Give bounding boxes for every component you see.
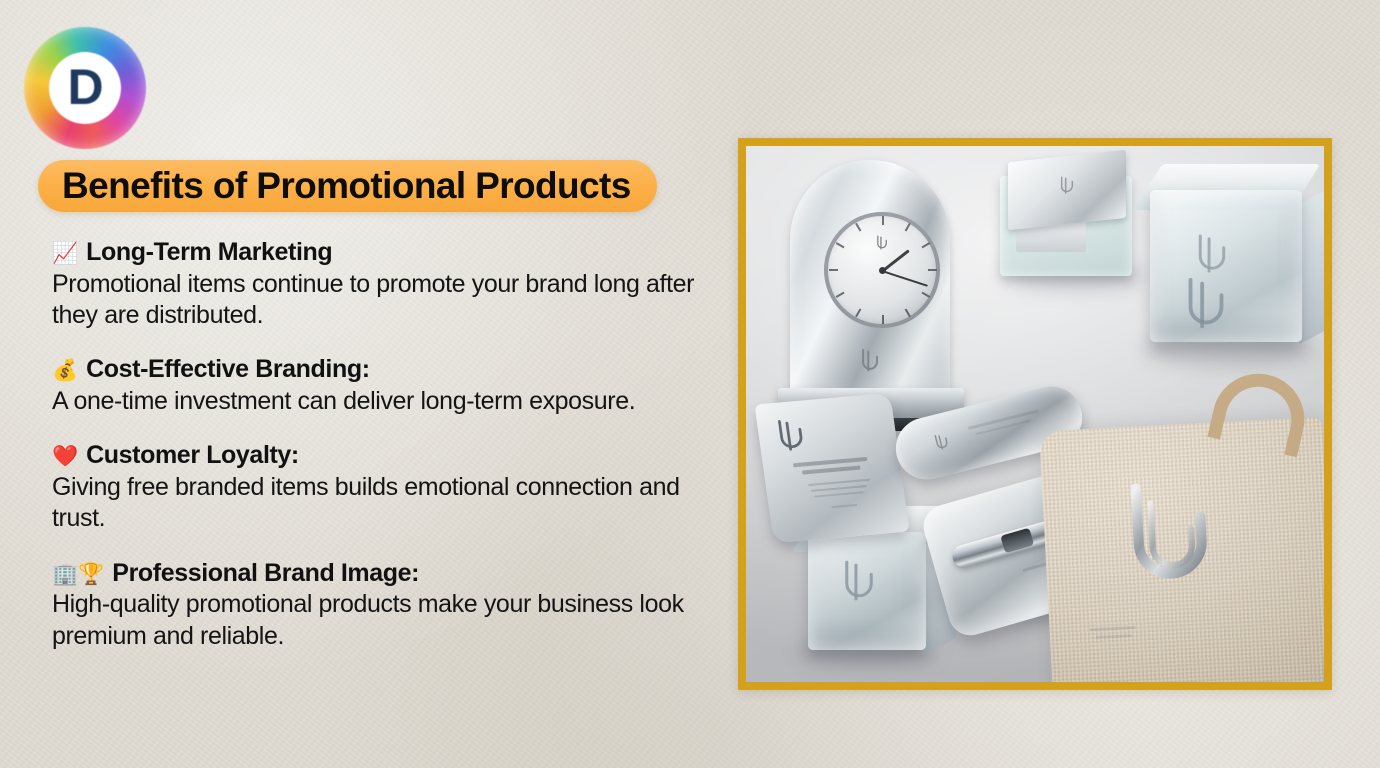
engraved-brand-mark (770, 414, 812, 458)
benefit-title: Customer Loyalty: (86, 441, 299, 470)
benefit-title: Cost-Effective Branding: (86, 355, 369, 384)
plaque-engraved-sub (831, 504, 857, 508)
memo-box-lid (1008, 150, 1126, 230)
logo-disc: D (49, 52, 121, 124)
slide-stage: D Benefits of Promotional Products 📈 Lon… (0, 0, 1380, 768)
benefit-heading: 💰 Cost-Effective Branding: (52, 355, 712, 384)
silver-memo-box (1000, 156, 1140, 281)
benefit-body: Promotional items continue to promote yo… (52, 269, 697, 332)
printed-brand-mark (1107, 467, 1232, 607)
metal-award-plaque (754, 393, 909, 544)
page-title-pill: Benefits of Promotional Products (38, 160, 657, 212)
product-photo (746, 146, 1324, 682)
pen-grip (1000, 528, 1034, 554)
crystal-cube-paperweight-large (1150, 190, 1302, 342)
benefit-heading: 📈 Long-Term Marketing (52, 238, 712, 267)
engraved-brand-mark (931, 430, 954, 455)
logo-letter: D (67, 62, 102, 112)
tote-handle (1207, 365, 1313, 458)
clock-body (790, 160, 950, 395)
benefit-item: ❤️ Customer Loyalty: Giving free branded… (52, 441, 712, 534)
product-photo-panel (738, 138, 1332, 690)
cube-front-face (808, 532, 926, 650)
engraved-brand-mark (1057, 173, 1077, 198)
tote-printed-text (1096, 634, 1132, 639)
clock-minute-hand (882, 270, 928, 287)
benefit-body: A one-time investment can deliver long-t… (52, 386, 697, 417)
benefit-heading: ❤️ Customer Loyalty: (52, 441, 712, 470)
benefit-title: Long-Term Marketing (86, 238, 332, 267)
benefits-list: 📈 Long-Term Marketing Promotional items … (52, 238, 712, 652)
money-bag-icon: 💰 (52, 360, 78, 381)
benefit-body: High-quality promotional products make y… (52, 589, 697, 652)
office-building-trophy-icon: 🏢🏆 (52, 564, 104, 585)
benefit-item: 🏢🏆 Professional Brand Image: High-qualit… (52, 559, 712, 652)
brand-logo: D (24, 27, 146, 149)
engraved-brand-mark (857, 346, 883, 376)
tote-printed-text (1090, 626, 1136, 631)
tote-brand-logo (1107, 467, 1232, 607)
crystal-cube-paperweight-small (808, 532, 926, 650)
plaque-engraved-title (802, 466, 860, 475)
clock-face (824, 212, 940, 328)
benefit-heading: 🏢🏆 Professional Brand Image: (52, 559, 712, 588)
canvas-tote-bag (1039, 417, 1324, 682)
engraved-brand-mark (874, 234, 890, 252)
etched-brand-mark (1177, 272, 1235, 338)
clock-pivot (879, 267, 886, 274)
benefit-item: 💰 Cost-Effective Branding: A one-time in… (52, 355, 712, 417)
page-title: Benefits of Promotional Products (62, 167, 631, 204)
benefit-item: 📈 Long-Term Marketing Promotional items … (52, 238, 712, 331)
benefit-body: Giving free branded items builds emotion… (52, 472, 697, 535)
heart-in-hand-icon: ❤️ (52, 446, 78, 467)
cube-front-face (1150, 190, 1302, 342)
chart-increasing-icon: 📈 (52, 243, 78, 264)
plaque-engraved-sub (814, 491, 864, 497)
etched-brand-mark (836, 556, 882, 608)
benefit-title: Professional Brand Image: (112, 559, 419, 588)
